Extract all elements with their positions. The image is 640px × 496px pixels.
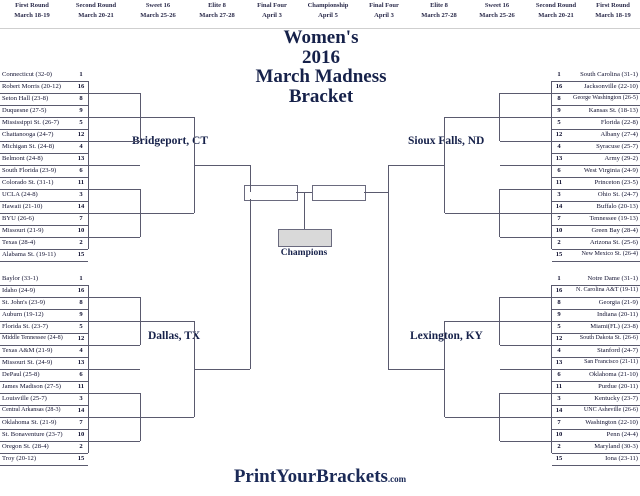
- team-name: Syracuse (25-7): [596, 141, 638, 152]
- team-name: Indiana (20-11): [597, 309, 638, 320]
- team-seed: 9: [74, 105, 88, 116]
- team-seed: 16: [552, 81, 566, 92]
- team-slot[interactable]: New Mexico St. (26-4)15: [552, 249, 640, 262]
- team-seed: 6: [74, 369, 88, 380]
- team-name: Texas A&M (21-9): [2, 345, 52, 356]
- team-name: Belmont (24-8): [2, 153, 43, 164]
- team-name: Kentucky (23-7): [594, 393, 638, 404]
- team-name: Penn (24-4): [607, 429, 638, 440]
- round-name: Final Four: [246, 1, 298, 11]
- connector-r2: [499, 189, 500, 237]
- team-name: BYU (26-6): [2, 213, 34, 224]
- team-seed: 6: [552, 165, 566, 176]
- connector-r1-out: [88, 297, 96, 298]
- team-name: Central Arkansas (28-3): [2, 405, 61, 416]
- team-name: Michigan St. (24-8): [2, 141, 54, 152]
- team-seed: 5: [74, 321, 88, 332]
- connector-r1-out: [88, 417, 96, 418]
- round-label-elite-8-right: Elite 8 March 27-28: [410, 1, 468, 21]
- round2-slot[interactable]: [96, 81, 140, 94]
- round2-slot[interactable]: [96, 357, 140, 370]
- sweet16-slot[interactable]: [150, 309, 194, 322]
- team-name: South Dakota St. (26-6): [580, 333, 638, 344]
- connector-r2-out: [140, 117, 150, 118]
- round2-slot[interactable]: [96, 153, 140, 166]
- connector-r1-out: [544, 237, 552, 238]
- round-name: First Round: [0, 1, 64, 11]
- round-label-final-four-left: Final Four April 3: [246, 1, 298, 21]
- connector-r1-out: [88, 237, 96, 238]
- team-name: Maryland (30-3): [594, 441, 638, 452]
- connector-r1-out: [88, 189, 96, 190]
- team-seed: 10: [552, 225, 566, 236]
- round-label-second-round-left: Second Round March 20-21: [64, 1, 128, 21]
- connector-r1-out: [544, 441, 552, 442]
- team-seed: 1: [552, 273, 566, 284]
- connector-r3-out: [434, 369, 444, 370]
- team-name: Ohio St. (24-7): [598, 189, 638, 200]
- round-label-elite-8-left: Elite 8 March 27-28: [188, 1, 246, 21]
- team-name: Stanford (24-7): [597, 345, 638, 356]
- team-seed: 5: [74, 117, 88, 128]
- team-seed: 10: [74, 429, 88, 440]
- team-seed: 16: [74, 81, 88, 92]
- connector-final-four-left: [250, 165, 251, 192]
- connector-r1-out: [544, 117, 552, 118]
- team-name: Connecticut (32-0): [2, 69, 52, 80]
- team-name: Iona (23-11): [605, 453, 638, 464]
- team-seed: 16: [552, 285, 566, 296]
- round-label-first-round-left: First Round March 18-19: [0, 1, 64, 21]
- team-name: Kansas St. (18-13): [589, 105, 638, 116]
- champions-label: Champions: [270, 248, 338, 258]
- round-date: March 20-21: [64, 11, 128, 21]
- team-seed: 2: [74, 237, 88, 248]
- team-seed: 4: [552, 141, 566, 152]
- team-seed: 9: [552, 105, 566, 116]
- connector-r1-out: [544, 393, 552, 394]
- brand-name: PrintYourBrackets: [234, 466, 388, 487]
- round-date: April 3: [358, 11, 410, 21]
- team-name: Colorado St. (31-1): [2, 177, 53, 188]
- connector-final-four-right-stem: [388, 165, 389, 369]
- connector-r3-out: [434, 165, 444, 166]
- team-seed: 2: [74, 441, 88, 452]
- connector-r1-out: [88, 441, 96, 442]
- team-seed: 14: [552, 405, 566, 416]
- team-name: Army (29-2): [604, 153, 638, 164]
- elite8-slot[interactable]: [204, 153, 244, 166]
- team-name: St. John's (23-9): [2, 297, 45, 308]
- site-brand: PrintYourBrackets.com: [0, 466, 640, 488]
- sweet16-slot[interactable]: [150, 105, 194, 118]
- team-name: Chattanooga (24-7): [2, 129, 53, 140]
- sweet16-slot[interactable]: [445, 309, 489, 322]
- team-name: Arizona St. (25-6): [590, 237, 638, 248]
- sweet16-slot[interactable]: [445, 201, 489, 214]
- team-name: Baylor (33-1): [2, 273, 38, 284]
- team-name: West Virginia (24-9): [584, 165, 638, 176]
- team-seed: 5: [552, 321, 566, 332]
- round2-slot[interactable]: [96, 405, 140, 418]
- team-seed: 15: [552, 453, 566, 464]
- connector-r1-out: [88, 369, 96, 370]
- elite8-slot[interactable]: [394, 153, 434, 166]
- team-seed: 12: [552, 129, 566, 140]
- team-name: Buffalo (20-13): [597, 201, 638, 212]
- team-seed: 12: [552, 333, 566, 344]
- team-name: Middle Tennessee (24-8): [2, 333, 63, 344]
- team-name: South Carolina (31-1): [580, 69, 638, 80]
- title-line-4: Bracket: [196, 87, 446, 107]
- team-seed: 11: [552, 381, 566, 392]
- round2-slot[interactable]: [96, 309, 140, 322]
- team-seed: 10: [74, 225, 88, 236]
- team-seed: 6: [74, 165, 88, 176]
- round2-slot[interactable]: [96, 381, 140, 394]
- connector-r1-out: [88, 393, 96, 394]
- team-seed: 15: [74, 453, 88, 464]
- round2-slot[interactable]: [500, 153, 544, 166]
- team-seed: 13: [74, 357, 88, 368]
- sweet16-slot[interactable]: [150, 201, 194, 214]
- round2-slot[interactable]: [500, 129, 544, 142]
- round2-slot[interactable]: [500, 381, 544, 394]
- team-seed: 9: [74, 309, 88, 320]
- team-name: Idaho (24-9): [2, 285, 35, 296]
- round-name: Second Round: [526, 1, 586, 11]
- team-seed: 13: [552, 357, 566, 368]
- site-label-lexington: Lexington, KY: [410, 330, 483, 342]
- team-seed: 11: [74, 381, 88, 392]
- team-name: Robert Morris (20-12): [2, 81, 61, 92]
- round2-slot[interactable]: [500, 105, 544, 118]
- team-name: Duquesne (27-5): [2, 105, 47, 116]
- team-seed: 11: [74, 177, 88, 188]
- connector-r1-out: [544, 165, 552, 166]
- team-seed: 4: [74, 141, 88, 152]
- round-name: Championship: [298, 1, 358, 11]
- connector-elite8-out: [244, 369, 250, 370]
- title-line-1: Women's: [196, 28, 446, 48]
- round2-slot[interactable]: [500, 357, 544, 370]
- connector-r2: [499, 297, 500, 345]
- team-seed: 2: [552, 237, 566, 248]
- team-name: Albany (27-4): [600, 129, 638, 140]
- connector-r1-out: [88, 321, 96, 322]
- team-seed: 14: [552, 201, 566, 212]
- team-seed: 8: [74, 297, 88, 308]
- round2-slot[interactable]: [96, 333, 140, 346]
- page-title: Women's 2016 March Madness Bracket: [196, 28, 446, 106]
- team-name: South Florida (23-9): [2, 165, 56, 176]
- round2-slot[interactable]: [96, 429, 140, 442]
- connector-r1-out: [544, 321, 552, 322]
- team-name: Missouri (21-9): [2, 225, 44, 236]
- round2-slot[interactable]: [500, 285, 544, 298]
- team-slot[interactable]: Alabama St. (19-11)15: [0, 249, 88, 262]
- brand-suffix: .com: [388, 474, 406, 484]
- connector-elite8-out: [388, 369, 394, 370]
- team-name: Princeton (23-5): [595, 177, 638, 188]
- team-seed: 14: [74, 201, 88, 212]
- round2-slot[interactable]: [96, 129, 140, 142]
- team-seed: 15: [74, 249, 88, 260]
- team-name: Seton Hall (23-8): [2, 93, 48, 104]
- title-line-3: March Madness: [196, 67, 446, 87]
- round2-slot[interactable]: [500, 201, 544, 214]
- round-date: April 5: [298, 11, 358, 21]
- team-seed: 9: [552, 309, 566, 320]
- team-seed: 8: [74, 93, 88, 104]
- round-date: March 27-28: [410, 11, 468, 21]
- team-name: Washington (22-10): [585, 417, 638, 428]
- connector-r1-out: [544, 93, 552, 94]
- team-name: Alabama St. (19-11): [2, 249, 56, 260]
- connector-r3: [444, 321, 445, 417]
- team-seed: 2: [552, 441, 566, 452]
- team-name: Green Bay (28-4): [591, 225, 638, 236]
- round2-slot[interactable]: [500, 177, 544, 190]
- round2-slot[interactable]: [96, 201, 140, 214]
- team-name: Florida (22-8): [601, 117, 638, 128]
- team-name: Tennessee (19-13): [590, 213, 638, 224]
- connector-r1-out: [88, 213, 96, 214]
- connector-final-four-right: [364, 192, 388, 193]
- site-label-bridgeport: Bridgeport, CT: [132, 135, 208, 147]
- team-name: Louisville (25-7): [2, 393, 47, 404]
- title-line-2: 2016: [196, 48, 446, 68]
- team-seed: 4: [552, 345, 566, 356]
- team-name: Purdue (20-11): [598, 381, 638, 392]
- team-name: Oklahoma (21-10): [589, 369, 638, 380]
- team-name: Missouri St. (24-9): [2, 357, 52, 368]
- team-name: Troy (20-12): [2, 453, 36, 464]
- round-label-championship: Championship April 5: [298, 1, 358, 21]
- team-name: Georgia (21-9): [599, 297, 638, 308]
- round2-slot[interactable]: [500, 333, 544, 346]
- final-four-slot-left[interactable]: [244, 185, 298, 201]
- connector-r1-out: [88, 165, 96, 166]
- round-date: March 20-21: [526, 11, 586, 21]
- team-seed: 14: [74, 405, 88, 416]
- connector-r1-out: [544, 369, 552, 370]
- connector-r2-out: [489, 213, 499, 214]
- connector-r1-out: [88, 141, 96, 142]
- round2-slot[interactable]: [96, 177, 140, 190]
- team-name: Hawaii (21-10): [2, 201, 42, 212]
- team-name: George Washington (26-5): [573, 93, 638, 104]
- team-name: Florida St. (23-7): [2, 321, 48, 332]
- round-name: Final Four: [358, 1, 410, 11]
- round-date: April 3: [246, 11, 298, 21]
- sweet16-slot[interactable]: [445, 405, 489, 418]
- site-label-dallas: Dallas, TX: [148, 330, 200, 342]
- champions-slot[interactable]: [278, 229, 332, 247]
- team-seed: 8: [552, 93, 566, 104]
- team-name: James Madison (27-5): [2, 381, 61, 392]
- team-seed: 6: [552, 369, 566, 380]
- team-seed: 3: [74, 393, 88, 404]
- team-name: UCLA (24-8): [2, 189, 38, 200]
- team-seed: 4: [74, 345, 88, 356]
- connector-r1-out: [544, 417, 552, 418]
- team-seed: 7: [74, 417, 88, 428]
- round-label-first-round-right: First Round March 18-19: [586, 1, 640, 21]
- team-seed: 7: [552, 213, 566, 224]
- round2-slot[interactable]: [500, 225, 544, 238]
- round-name: Sweet 16: [128, 1, 188, 11]
- connector-r2-out: [140, 213, 150, 214]
- team-seed: 3: [552, 393, 566, 404]
- round2-slot[interactable]: [96, 105, 140, 118]
- round-date: March 27-28: [188, 11, 246, 21]
- team-name: Oregon St. (28-4): [2, 441, 49, 452]
- team-name: San Francisco (21-11): [584, 357, 638, 368]
- connector-r2-out: [489, 321, 499, 322]
- round-name: Elite 8: [188, 1, 246, 11]
- team-name: St. Bonaventure (23-7): [2, 429, 63, 440]
- connector-r2-out: [489, 117, 499, 118]
- team-seed: 1: [552, 69, 566, 80]
- round-date: March 25-26: [468, 11, 526, 21]
- team-name: Oklahoma St. (21-9): [2, 417, 56, 428]
- team-seed: 11: [552, 177, 566, 188]
- sweet16-slot[interactable]: [150, 405, 194, 418]
- bracket-diagram: First Round March 18-19 Second Round Mar…: [0, 0, 640, 496]
- round-date: March 18-19: [0, 11, 64, 21]
- team-name: New Mexico St. (26-4): [581, 249, 638, 260]
- round2-slot[interactable]: [500, 309, 544, 322]
- team-name: Mississippi St. (26-7): [2, 117, 59, 128]
- team-seed: 12: [74, 129, 88, 140]
- round-date: March 18-19: [586, 11, 640, 21]
- round2-slot[interactable]: [500, 429, 544, 442]
- round-name: Sweet 16: [468, 1, 526, 11]
- team-name: Miami(FL) (23-8): [590, 321, 638, 332]
- connector-r1-out: [88, 117, 96, 118]
- connector-r2-out: [489, 417, 499, 418]
- connector-r2-out: [140, 417, 150, 418]
- team-seed: 3: [74, 189, 88, 200]
- team-slot[interactable]: Troy (20-12)15: [0, 453, 88, 466]
- connector-championship-stem: [304, 192, 305, 229]
- connector-final-four-left-stem: [250, 199, 251, 369]
- round2-slot[interactable]: [96, 285, 140, 298]
- connector-r2: [499, 393, 500, 441]
- connector-r1-out: [544, 141, 552, 142]
- team-name: Jacksonville (22-10): [584, 81, 638, 92]
- elite8-slot[interactable]: [394, 357, 434, 370]
- round-name: Elite 8: [410, 1, 468, 11]
- team-seed: 3: [552, 189, 566, 200]
- elite8-slot[interactable]: [204, 357, 244, 370]
- connector-r1-out: [88, 93, 96, 94]
- round-label-sweet-16-right: Sweet 16 March 25-26: [468, 1, 526, 21]
- team-name: N. Carolina A&T (19-11): [576, 285, 638, 296]
- connector-r1-out: [544, 213, 552, 214]
- team-name: UNC Asheville (26-6): [584, 405, 638, 416]
- site-label-sioux-falls: Sioux Falls, ND: [408, 135, 484, 147]
- team-seed: 1: [74, 69, 88, 80]
- team-name: Auburn (19-12): [2, 309, 44, 320]
- team-seed: 10: [552, 429, 566, 440]
- round2-slot[interactable]: [500, 81, 544, 94]
- team-seed: 7: [552, 417, 566, 428]
- final-four-slot-right[interactable]: [312, 185, 366, 201]
- connector-r3: [444, 117, 445, 213]
- connector-r3-out: [194, 369, 204, 370]
- round2-slot[interactable]: [500, 405, 544, 418]
- team-slot[interactable]: Iona (23-11)15: [552, 453, 640, 466]
- round-label-final-four-right: Final Four April 3: [358, 1, 410, 21]
- team-seed: 8: [552, 297, 566, 308]
- team-seed: 13: [552, 153, 566, 164]
- team-seed: 16: [74, 285, 88, 296]
- connector-r1-out: [544, 297, 552, 298]
- connector-r2: [499, 93, 500, 141]
- team-name: Notre Dame (31-1): [587, 273, 638, 284]
- sweet16-slot[interactable]: [445, 105, 489, 118]
- team-seed: 13: [74, 153, 88, 164]
- round-label-second-round-right: Second Round March 20-21: [526, 1, 586, 21]
- round-name: First Round: [586, 1, 640, 11]
- round-date: March 25-26: [128, 11, 188, 21]
- round2-slot[interactable]: [96, 225, 140, 238]
- round-label-sweet-16-left: Sweet 16 March 25-26: [128, 1, 188, 21]
- connector-r3-out: [194, 165, 204, 166]
- team-seed: 15: [552, 249, 566, 260]
- team-seed: 12: [74, 333, 88, 344]
- connector-r1-out: [88, 345, 96, 346]
- team-name: Texas (28-4): [2, 237, 35, 248]
- team-seed: 7: [74, 213, 88, 224]
- connector-r1-out: [544, 345, 552, 346]
- round-header-bar: First Round March 18-19 Second Round Mar…: [0, 0, 640, 29]
- connector-r1-out: [544, 189, 552, 190]
- round-name: Second Round: [64, 1, 128, 11]
- team-name: DePaul (25-8): [2, 369, 40, 380]
- team-seed: 5: [552, 117, 566, 128]
- connector-r2-out: [140, 321, 150, 322]
- team-seed: 1: [74, 273, 88, 284]
